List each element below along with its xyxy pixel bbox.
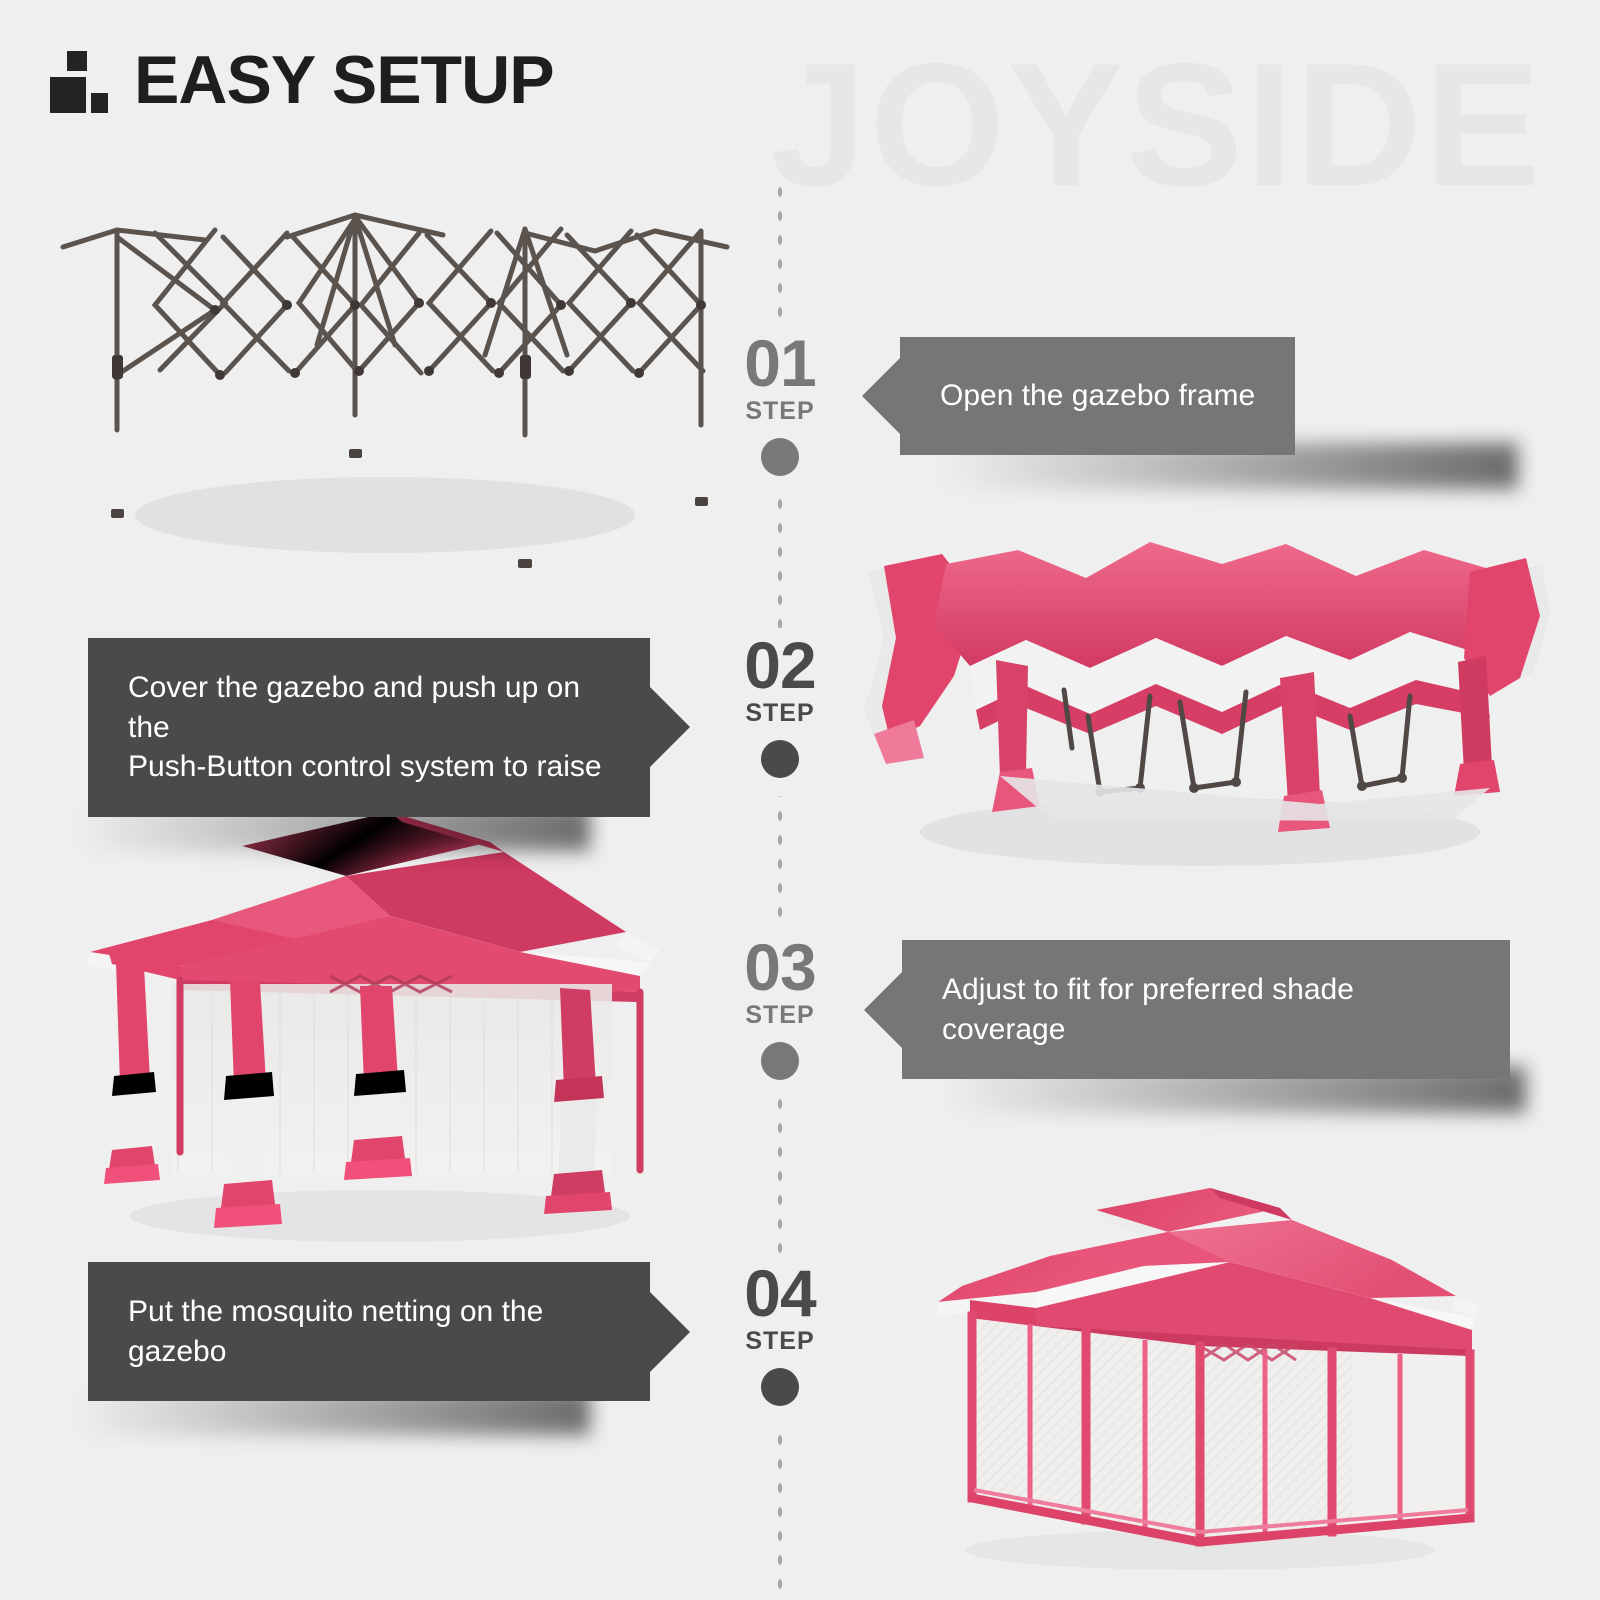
callout-text: Open the gazebo frame: [940, 376, 1255, 416]
three-squares-logo-icon: [50, 51, 108, 113]
page-header: EASY SETUP: [50, 48, 554, 113]
step-number: 03: [695, 936, 865, 999]
callout-text: Cover the gazebo and push up on thePush-…: [128, 668, 610, 787]
callout-arrow-right-icon: [650, 1292, 690, 1372]
step-marker-02: 02 STEP: [695, 634, 865, 778]
step-dot: [761, 438, 799, 476]
callout-text: Put the mosquito netting on the gazebo: [128, 1292, 610, 1371]
step-number: 02: [695, 634, 865, 697]
step-dot: [761, 740, 799, 778]
step-word: STEP: [695, 699, 865, 728]
step-word: STEP: [695, 1327, 865, 1356]
callout-step-04: Put the mosquito netting on the gazebo: [88, 1262, 650, 1401]
page-title: EASY SETUP: [134, 48, 554, 113]
callout-text: Adjust to fit for preferred shade covera…: [942, 970, 1470, 1049]
callout-step-03: Adjust to fit for preferred shade covera…: [902, 940, 1510, 1079]
callout-step-01: Open the gazebo frame: [900, 337, 1502, 455]
step-marker-01: 01 STEP: [695, 332, 865, 476]
gazebo-canopy-draped-photo: [850, 520, 1550, 880]
brand-watermark: JOYSIDE: [770, 38, 1543, 213]
step-marker-04: 04 STEP: [695, 1262, 865, 1406]
step-marker-03: 03 STEP: [695, 936, 865, 1080]
callout-arrow-right-icon: [650, 687, 690, 767]
gazebo-frame-unfolded-photo: [55, 185, 735, 575]
step-word: STEP: [695, 397, 865, 426]
callout-text-line2: Push-Button control system to raise: [128, 750, 602, 783]
step-number: 01: [695, 332, 865, 395]
callout-arrow-left-icon: [862, 358, 900, 434]
step-dot: [761, 1042, 799, 1080]
callout-text-line1: Cover the gazebo and push up on the: [128, 671, 580, 744]
callout-arrow-left-icon: [864, 972, 902, 1048]
step-dot: [761, 1368, 799, 1406]
gazebo-mosquito-netting-photo: [900, 1150, 1500, 1570]
step-number: 04: [695, 1262, 865, 1325]
step-word: STEP: [695, 1001, 865, 1030]
callout-step-02: Cover the gazebo and push up on thePush-…: [88, 638, 650, 817]
